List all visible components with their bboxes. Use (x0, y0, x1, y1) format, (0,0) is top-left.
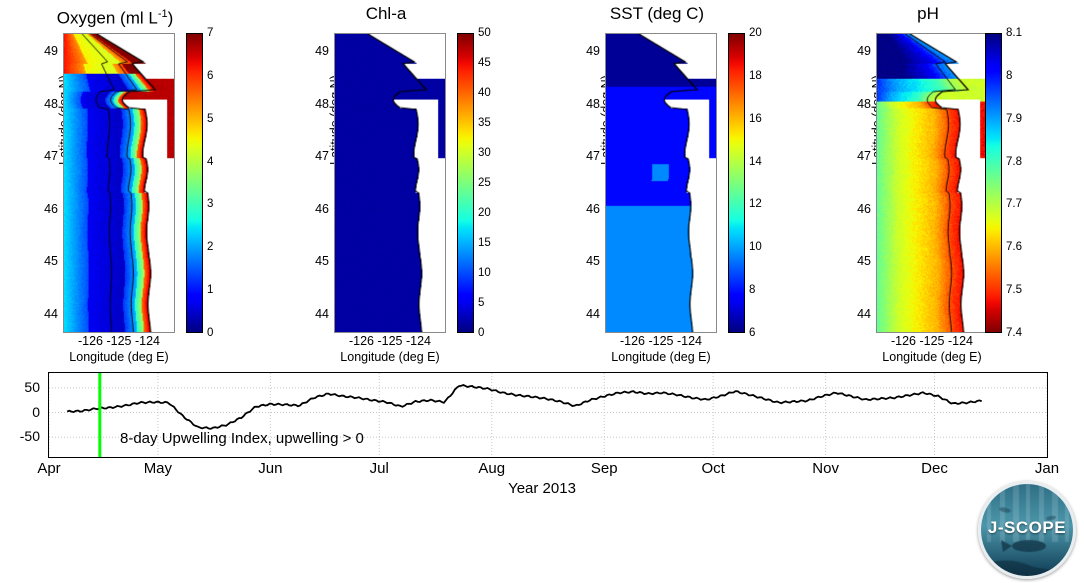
panel-chla: Chl-a 494847464544 Latitude (deg N) -126… (271, 0, 542, 362)
colorbar-tick-label: 7.6 (1006, 241, 1022, 253)
colorbar-sst (728, 33, 745, 333)
logo-label: J-SCOPE (981, 518, 1073, 538)
timeseries-x-tick-label: Aug (478, 460, 505, 477)
timeseries-line (67, 385, 982, 429)
map-canvas-sst (606, 34, 716, 332)
colorbar-tick-label: 2 (207, 241, 213, 253)
map-ph (876, 33, 988, 333)
timeseries-y-tick-label: 0 (0, 404, 40, 420)
panel-oxygen: Oxygen (ml L-1) 494847464544 Latitude (d… (0, 0, 271, 362)
colorbar-tick-label: 5 (207, 113, 213, 125)
map-canvas-oxygen (64, 34, 174, 332)
lat-tick-label: 44 (44, 307, 58, 321)
lon-axis-label-ph: Longitude (deg E) (856, 350, 1008, 364)
colorbar-tick-label: 7 (207, 27, 213, 39)
colorbar-ph (985, 33, 1002, 333)
colorbar-tick-label: 7.9 (1006, 113, 1022, 125)
lat-tick-label: 44 (315, 307, 329, 321)
lat-ticks-oxygen: 494847464544 (28, 33, 60, 333)
colorbar-tick-label: 15 (478, 237, 491, 249)
colorbar-tick-label: 16 (749, 113, 762, 125)
panel-sst: SST (deg C) 494847464544 Latitude (deg N… (542, 0, 813, 362)
map-chla (334, 33, 446, 333)
colorbar-ticks-sst: 20181614121086 (745, 33, 785, 333)
upwelling-index-chart: 500-50 AprMayJunJulAugSepOctNovDecJan 8-… (0, 368, 1084, 483)
colorbar-tick-label: 7.7 (1006, 198, 1022, 210)
timeseries-x-tick-label: Oct (701, 460, 724, 477)
lat-tick-label: 46 (315, 202, 329, 216)
lat-tick-label: 48 (315, 97, 329, 111)
lon-axis-label-chla: Longitude (deg E) (314, 350, 466, 364)
colorbar-tick-label: 5 (478, 297, 484, 309)
panel-title-sst: SST (deg C) (542, 4, 772, 24)
colorbar-tick-label: 20 (749, 27, 762, 39)
lat-tick-label: 49 (315, 44, 329, 58)
timeseries-x-tick-label: Nov (812, 460, 839, 477)
lat-tick-label: 47 (586, 149, 600, 163)
lat-ticks-ph: 494847464544 (841, 33, 873, 333)
colorbar-tick-label: 25 (478, 177, 491, 189)
colorbar-tick-label: 1 (207, 284, 213, 296)
map-canvas-ph (877, 34, 987, 332)
lat-tick-label: 48 (586, 97, 600, 111)
lat-tick-label: 49 (586, 44, 600, 58)
colorbar-tick-label: 4 (207, 156, 213, 168)
lat-tick-label: 48 (857, 97, 871, 111)
timeseries-x-tick-label: Sep (591, 460, 618, 477)
lat-tick-label: 45 (586, 254, 600, 268)
timeseries-y-tick-label: -50 (0, 428, 40, 444)
timeseries-annotation: 8-day Upwelling Index, upwelling > 0 (120, 430, 364, 447)
colorbar-tick-label: 40 (478, 87, 491, 99)
timeseries-x-tick-label: Jun (258, 460, 282, 477)
timeseries-x-tick-label: Jan (1035, 460, 1059, 477)
timeseries-x-tick-label: May (144, 460, 172, 477)
colorbar-tick-label: 0 (207, 327, 213, 339)
colorbar-oxygen (186, 33, 203, 333)
lat-tick-label: 44 (586, 307, 600, 321)
panel-title-oxygen: Oxygen (ml L-1) (0, 4, 230, 29)
lat-tick-label: 46 (44, 202, 58, 216)
lon-ticks-ph: -126 -125 -124 (853, 334, 1011, 348)
panel-title-chla: Chl-a (271, 4, 501, 24)
lat-tick-label: 45 (857, 254, 871, 268)
map-oxygen (63, 33, 175, 333)
colorbar-tick-label: 7.8 (1006, 156, 1022, 168)
lat-ticks-chla: 494847464544 (299, 33, 331, 333)
map-canvas-chla (335, 34, 445, 332)
colorbar-tick-label: 3 (207, 198, 213, 210)
colorbar-chla (457, 33, 474, 333)
colorbar-tick-label: 12 (749, 198, 762, 210)
lat-tick-label: 47 (315, 149, 329, 163)
lon-ticks-oxygen: -126 -125 -124 (40, 334, 198, 348)
colorbar-tick-label: 8.1 (1006, 27, 1022, 39)
lon-ticks-chla: -126 -125 -124 (311, 334, 469, 348)
lat-tick-label: 47 (857, 149, 871, 163)
colorbar-tick-label: 0 (478, 327, 484, 339)
lat-ticks-sst: 494847464544 (570, 33, 602, 333)
lat-tick-label: 47 (44, 149, 58, 163)
lat-tick-label: 49 (44, 44, 58, 58)
lon-axis-label-oxygen: Longitude (deg E) (43, 350, 195, 364)
colorbar-ticks-oxygen: 76543210 (203, 33, 243, 333)
lat-tick-label: 46 (857, 202, 871, 216)
colorbar-tick-label: 50 (478, 27, 491, 39)
lat-tick-label: 45 (315, 254, 329, 268)
lat-tick-label: 48 (44, 97, 58, 111)
panel-ph: pH 494847464544 Latitude (deg N) -126 -1… (813, 0, 1084, 362)
timeseries-x-tick-label: Dec (921, 460, 948, 477)
colorbar-tick-label: 10 (749, 241, 762, 253)
timeseries-x-tick-label: Apr (37, 460, 60, 477)
lat-tick-label: 44 (857, 307, 871, 321)
colorbar-ticks-ph: 8.187.97.87.77.67.57.4 (1002, 33, 1042, 333)
lon-axis-label-sst: Longitude (deg E) (585, 350, 737, 364)
colorbar-tick-label: 8 (1006, 70, 1012, 82)
lon-ticks-sst: -126 -125 -124 (582, 334, 740, 348)
colorbar-tick-label: 18 (749, 70, 762, 82)
colorbar-tick-label: 6 (749, 327, 755, 339)
colorbar-ticks-chla: 50454035302520151050 (474, 33, 514, 333)
colorbar-tick-label: 14 (749, 156, 762, 168)
colorbar-tick-label: 7.5 (1006, 284, 1022, 296)
timeseries-x-tick-label: Jul (370, 460, 389, 477)
lat-tick-label: 46 (586, 202, 600, 216)
j-scope-logo[interactable]: J-SCOPE (978, 481, 1076, 579)
timeseries-y-tick-label: 50 (0, 379, 40, 395)
lat-tick-label: 45 (44, 254, 58, 268)
lat-tick-label: 49 (857, 44, 871, 58)
colorbar-tick-label: 6 (207, 70, 213, 82)
colorbar-tick-label: 30 (478, 147, 491, 159)
colorbar-tick-label: 10 (478, 267, 491, 279)
colorbar-tick-label: 8 (749, 284, 755, 296)
timeseries-x-axis-label: Year 2013 (0, 480, 1084, 497)
map-sst (605, 33, 717, 333)
colorbar-tick-label: 20 (478, 207, 491, 219)
colorbar-tick-label: 45 (478, 57, 491, 69)
panel-title-ph: pH (813, 4, 1043, 24)
colorbar-tick-label: 35 (478, 117, 491, 129)
colorbar-tick-label: 7.4 (1006, 327, 1022, 339)
